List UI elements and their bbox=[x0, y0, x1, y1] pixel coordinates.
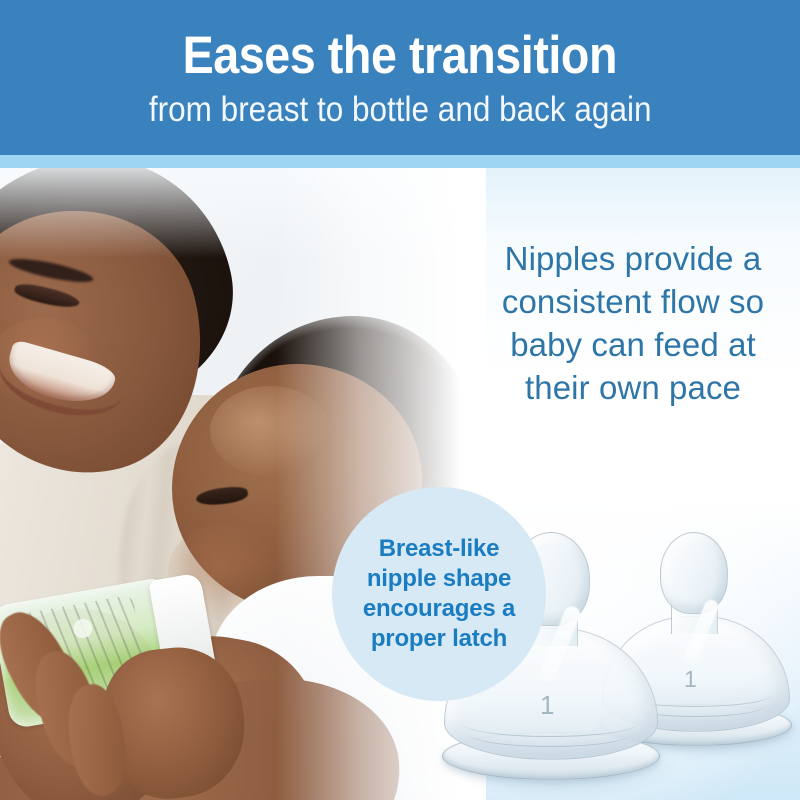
page-subheadline: from breast to bottle and back again bbox=[149, 92, 652, 127]
product-feature-panel: Eases the transition from breast to bott… bbox=[0, 0, 800, 800]
feature-description: Nipples provide a consistent flow so bab… bbox=[468, 238, 798, 410]
callout-badge-text: Breast-like nipple shape encourages a pr… bbox=[363, 534, 515, 655]
feature-line: baby can feed at bbox=[468, 324, 798, 367]
flow-level-marking: 1 bbox=[540, 690, 554, 721]
callout-badge: Breast-like nipple shape encourages a pr… bbox=[332, 487, 546, 701]
feature-line: Nipples provide a bbox=[468, 238, 798, 281]
lifestyle-photo bbox=[0, 168, 486, 800]
header-accent-rule bbox=[0, 155, 800, 168]
flow-level-marking: 1 bbox=[684, 666, 697, 693]
feature-line: their own pace bbox=[468, 367, 798, 410]
feature-line: consistent flow so bbox=[468, 281, 798, 324]
nipple-ridge bbox=[470, 722, 630, 747]
header-band: Eases the transition from breast to bott… bbox=[0, 0, 800, 155]
badge-line: Breast-like bbox=[363, 534, 515, 564]
badge-line: nipple shape bbox=[363, 564, 515, 594]
badge-line: proper latch bbox=[363, 624, 515, 654]
badge-line: encourages a bbox=[363, 594, 515, 624]
page-headline: Eases the transition bbox=[183, 29, 617, 82]
nipple-tip bbox=[660, 532, 728, 614]
photo-inner bbox=[0, 168, 486, 800]
